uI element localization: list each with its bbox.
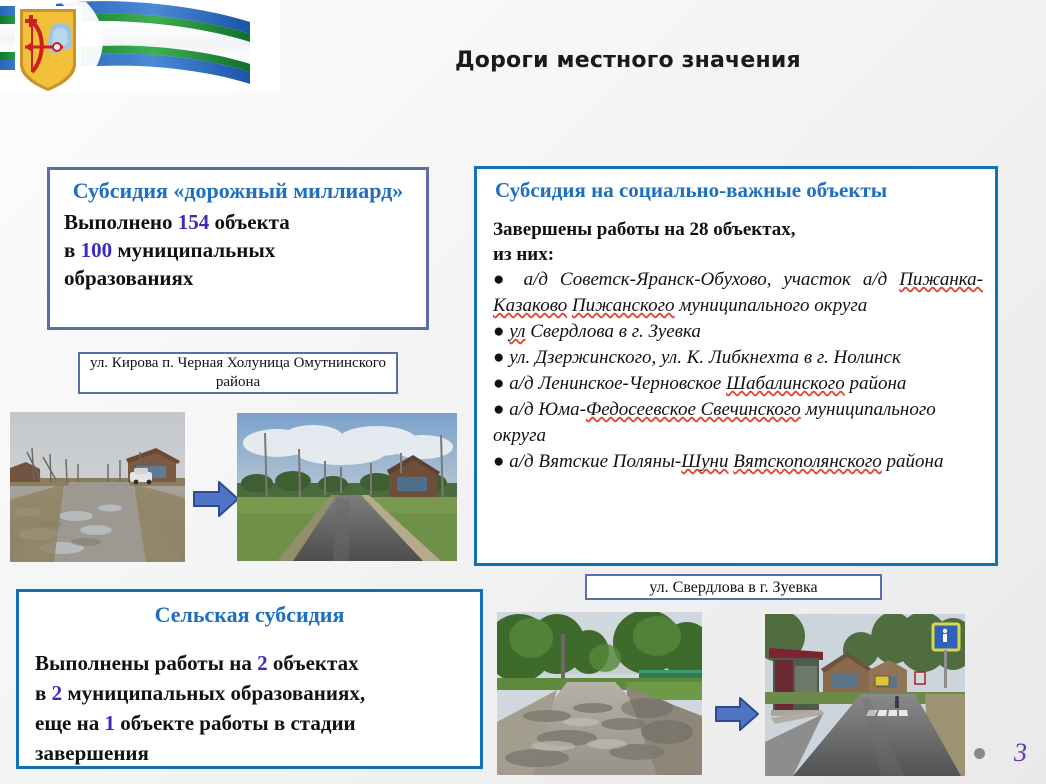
spellcheck-underlined-text: Федосеевское Свечинского — [586, 399, 801, 420]
road-billion-heading: Субсидия «дорожный миллиард» — [50, 170, 426, 204]
photo-holunitsa-before — [10, 412, 185, 562]
social-bullet-item: ● ул. Дзержинского, ул. К. Либкнехта в г… — [493, 345, 983, 371]
bullet-marker-icon: ● — [493, 321, 509, 342]
road-billion-line-1: Выполнено 154 объекта — [64, 208, 414, 236]
ru-l2-pre: в — [35, 681, 52, 705]
social-intro-line-1: Завершены работы на 28 объектах, — [493, 217, 985, 242]
rural-subsidy-body: Выполнены работы на 2 объектах в 2 муниц… — [19, 628, 480, 768]
social-bullet-item: ● а/д Юма-Федосеевское Свечинского муниц… — [493, 397, 983, 449]
rural-subsidy-heading: Сельская субсидия — [19, 592, 480, 628]
rural-line-4: завершения — [35, 738, 464, 768]
bullet-marker-icon: ● — [493, 399, 509, 420]
right-arrow-icon-zuevka — [714, 694, 760, 734]
bullet-marker-icon: ● — [493, 269, 524, 290]
bullet-marker-icon: ● — [493, 373, 509, 394]
rural-subsidy-box: Сельская субсидия Выполнены работы на 2 … — [16, 589, 483, 769]
social-bullet-item: ● а/д Советск-Яранск-Обухово, участок а/… — [493, 267, 983, 319]
social-intro-line-2: из них: — [493, 242, 985, 267]
bullet-text: муниципального округа — [675, 295, 868, 316]
slide-number: 3 — [1014, 738, 1027, 768]
road-billion-line-2: в 100 муниципальных — [64, 236, 414, 264]
rural-line-2: в 2 муниципальных образованиях, — [35, 678, 464, 708]
bullet-marker-icon: ● — [493, 451, 509, 472]
rb-l1-post: объекта — [209, 210, 289, 234]
caption-zuevka: ул. Свердлова в г. Зуевка — [585, 574, 882, 600]
social-bullet-item: ● а/д Ленинское-Черновское Шабалинского … — [493, 371, 983, 397]
bullet-text: района — [845, 373, 907, 394]
bullet-text: ул. Дзержинского, ул. К. Либкнехта в г. … — [509, 347, 901, 368]
kirov-oblast-coat-of-arms-icon — [15, 6, 81, 92]
ru-l1-number: 2 — [257, 651, 268, 675]
road-billion-subsidy-box: Субсидия «дорожный миллиард» Выполнено 1… — [47, 167, 429, 330]
bullet-text: а/д Вятские Поляны- — [509, 451, 681, 472]
ru-l1-post: объектах — [268, 651, 359, 675]
social-objects-intro: Завершены работы на 28 объектах, из них: — [477, 203, 995, 267]
spellcheck-underlined-text: Вятскополянского — [733, 451, 882, 472]
bullet-text: а/д Юма- — [509, 399, 586, 420]
bullet-text: а/д Советск-Яранск-Обухово, участок а/д — [524, 269, 900, 290]
spellcheck-underlined-text: Пижанского — [572, 295, 675, 316]
photo-zuevka-before — [497, 612, 702, 775]
rb-l2-pre: в — [64, 238, 81, 262]
social-objects-heading: Субсидия на социально-важные объекты — [477, 169, 995, 203]
rural-line-1: Выполнены работы на 2 объектах — [35, 648, 464, 678]
rb-l1-pre: Выполнено — [64, 210, 178, 234]
social-bullet-item: ● ул Свердлова в г. Зуевка — [493, 319, 983, 345]
bullet-text: района — [882, 451, 944, 472]
rb-l2-post: муниципальных — [112, 238, 275, 262]
rural-line-3: еще на 1 объекте работы в стадии — [35, 708, 464, 738]
social-objects-bullet-list: ● а/д Советск-Яранск-Обухово, участок а/… — [477, 267, 995, 475]
footer-dot-decoration — [974, 748, 985, 759]
caption-holunitsa: ул. Кирова п. Черная Холуница Омутнинско… — [78, 352, 398, 394]
ru-l3-post: объекте работы в стадии — [115, 711, 356, 735]
ru-l2-number: 2 — [52, 681, 63, 705]
ru-l1-pre: Выполнены работы на — [35, 651, 257, 675]
social-bullet-item: ● а/д Вятские Поляны-Шуни Вятскополянско… — [493, 449, 983, 475]
photo-holunitsa-after — [237, 413, 457, 561]
bullet-text: Свердлова в г. Зуевка — [525, 321, 700, 342]
rb-l1-number: 154 — [178, 210, 210, 234]
spellcheck-underlined-text: ул — [509, 321, 525, 342]
road-billion-body: Выполнено 154 объекта в 100 муниципальны… — [50, 204, 426, 292]
right-arrow-icon-holunitsa — [192, 478, 240, 520]
bullet-text: а/д Ленинское-Черновское — [509, 373, 726, 394]
page-title: Дороги местного значения — [455, 48, 975, 73]
rb-l2-number: 100 — [81, 238, 113, 262]
ru-l2-post: муниципальных образованиях, — [62, 681, 365, 705]
road-billion-line-3: образованиях — [64, 264, 414, 292]
social-objects-subsidy-box: Субсидия на социально-важные объекты Зав… — [474, 166, 998, 566]
spellcheck-underlined-text: Шуни — [681, 451, 728, 472]
spellcheck-underlined-text: Шабалинского — [726, 373, 845, 394]
photo-zuevka-after — [765, 614, 965, 776]
bullet-marker-icon: ● — [493, 347, 509, 368]
header-banner — [0, 0, 280, 92]
ru-l3-number: 1 — [104, 711, 115, 735]
ru-l3-pre: еще на — [35, 711, 104, 735]
